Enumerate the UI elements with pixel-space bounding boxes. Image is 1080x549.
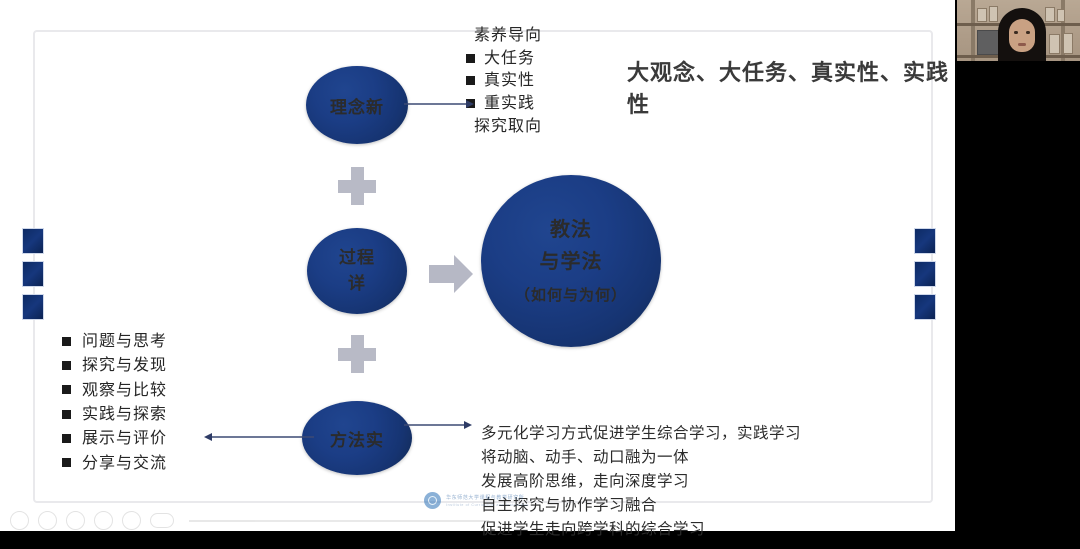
node-circle-concept: 理念新	[306, 66, 408, 144]
bottom-text-line: 促进学生走向跨学科的综合学习	[481, 517, 801, 541]
list-item: 展示与评价	[62, 426, 167, 450]
shelf-book	[1049, 34, 1060, 54]
list-item: 实践与探索	[62, 402, 167, 426]
list-item-label: 观察与比较	[82, 378, 167, 402]
decoration-square	[914, 294, 936, 320]
left-decoration-squares	[22, 228, 44, 320]
pointer-icon[interactable]	[38, 511, 57, 530]
shelf-book	[1045, 7, 1055, 22]
square-bullet-icon	[62, 361, 71, 370]
node-circle-process-label-1: 过程	[339, 245, 375, 271]
list-item: 观察与比较	[62, 378, 167, 402]
list-item-label: 问题与思考	[82, 329, 167, 353]
institution-watermark-text: 华东师范大学课程与教学研究所 Institute of Curriculum a…	[446, 494, 529, 507]
bottom-text-line: 将动脑、动手、动口融为一体	[481, 445, 801, 469]
presenter-face	[1009, 19, 1035, 52]
arrow-left-activities-icon	[204, 430, 314, 444]
decoration-square	[914, 228, 936, 254]
left-activity-list: 问题与思考 探究与发现 观察与比较 实践与探索 展示与评价 分享与交流	[62, 329, 167, 475]
watermark-line-1: 华东师范大学课程与教学研究所	[446, 494, 529, 501]
main-circle-line-2: 与学法	[540, 250, 603, 272]
top-block-item: 大任务	[466, 47, 542, 70]
top-block-item: 真实性	[466, 69, 542, 92]
zoom-icon[interactable]	[122, 511, 141, 530]
node-circle-process: 过程 详	[307, 228, 407, 314]
highlighter-icon[interactable]	[66, 511, 85, 530]
square-bullet-icon	[62, 410, 71, 419]
square-bullet-icon	[466, 76, 475, 85]
node-circle-concept-label: 理念新	[330, 93, 384, 118]
main-circle-line-1: 教法	[550, 218, 592, 240]
list-item-label: 探究与发现	[82, 353, 167, 377]
more-icon[interactable]	[150, 513, 174, 528]
square-bullet-icon	[62, 458, 71, 467]
list-item: 问题与思考	[62, 329, 167, 353]
square-bullet-icon	[466, 54, 475, 63]
plus-icon	[338, 167, 376, 205]
plus-icon	[338, 335, 376, 373]
list-item-label: 实践与探索	[82, 402, 167, 426]
node-circle-method: 方法实	[302, 401, 412, 475]
institution-logo-icon	[424, 492, 441, 509]
main-circle-pedagogy: 教法 与学法 （如何与为何）	[481, 175, 661, 347]
top-block-item-label: 大任务	[484, 47, 535, 70]
decoration-square	[22, 228, 44, 254]
webcam-letterbox	[957, 61, 1080, 98]
presenter-mouth	[1018, 43, 1026, 46]
bottom-text-line: 发展高阶思维，走向深度学习	[481, 469, 801, 493]
bottom-text-line: 多元化学习方式促进学生综合学习，实践学习	[481, 421, 801, 445]
shelf-book	[1057, 9, 1065, 22]
top-block-item-label: 重实践	[484, 92, 535, 115]
square-bullet-icon	[62, 434, 71, 443]
pen-icon[interactable]	[10, 511, 29, 530]
list-item: 探究与发现	[62, 353, 167, 377]
list-item-label: 分享与交流	[82, 451, 167, 475]
shared-slide-area: 素养导向 大任务 真实性 重实践 探究取向 大观念、大任务、真实性、实践性 理念…	[0, 0, 955, 531]
node-circle-method-label: 方法实	[330, 426, 384, 451]
presenter-eye	[1026, 31, 1030, 34]
slide-headline: 大观念、大任务、真实性、实践性	[627, 55, 955, 119]
right-decoration-squares	[914, 228, 936, 320]
watermark-line-2: Institute of Curriculum and Instruction	[446, 503, 529, 507]
list-item: 分享与交流	[62, 451, 167, 475]
presenter-webcam-tile[interactable]	[957, 0, 1080, 98]
square-bullet-icon	[62, 385, 71, 394]
decoration-square	[914, 261, 936, 287]
presentation-toolbar[interactable]	[10, 511, 489, 530]
top-block-lead: 素养导向	[466, 24, 542, 47]
top-block-tail: 探究取向	[466, 115, 542, 138]
block-arrow-right-icon	[427, 252, 475, 296]
square-bullet-icon	[62, 337, 71, 346]
top-block-item-label: 真实性	[484, 69, 535, 92]
top-block-item: 重实践	[466, 92, 542, 115]
institution-watermark: 华东师范大学课程与教学研究所 Institute of Curriculum a…	[424, 492, 529, 509]
toolbar-divider	[189, 520, 489, 522]
shelf-book	[977, 8, 987, 22]
list-item-label: 展示与评价	[82, 426, 167, 450]
decoration-square	[22, 261, 44, 287]
arrow-right-method-icon	[404, 418, 472, 432]
node-circle-process-label-2: 详	[348, 271, 366, 297]
bottom-description-text: 多元化学习方式促进学生综合学习，实践学习 将动脑、动手、动口融为一体 发展高阶思…	[481, 421, 801, 541]
bottom-text-line: 自主探究与协作学习融合	[481, 493, 801, 517]
shelf-book	[989, 6, 998, 22]
main-circle-line-3: （如何与为何）	[515, 287, 627, 304]
decoration-square	[22, 294, 44, 320]
meeting-screen: 素养导向 大任务 真实性 重实践 探究取向 大观念、大任务、真实性、实践性 理念…	[0, 0, 1080, 549]
arrow-right-concept-icon	[404, 97, 474, 111]
shelf-book	[1063, 33, 1073, 54]
eraser-icon[interactable]	[94, 511, 113, 530]
top-bullet-block: 素养导向 大任务 真实性 重实践 探究取向	[466, 24, 542, 138]
presenter-eye	[1014, 31, 1018, 34]
